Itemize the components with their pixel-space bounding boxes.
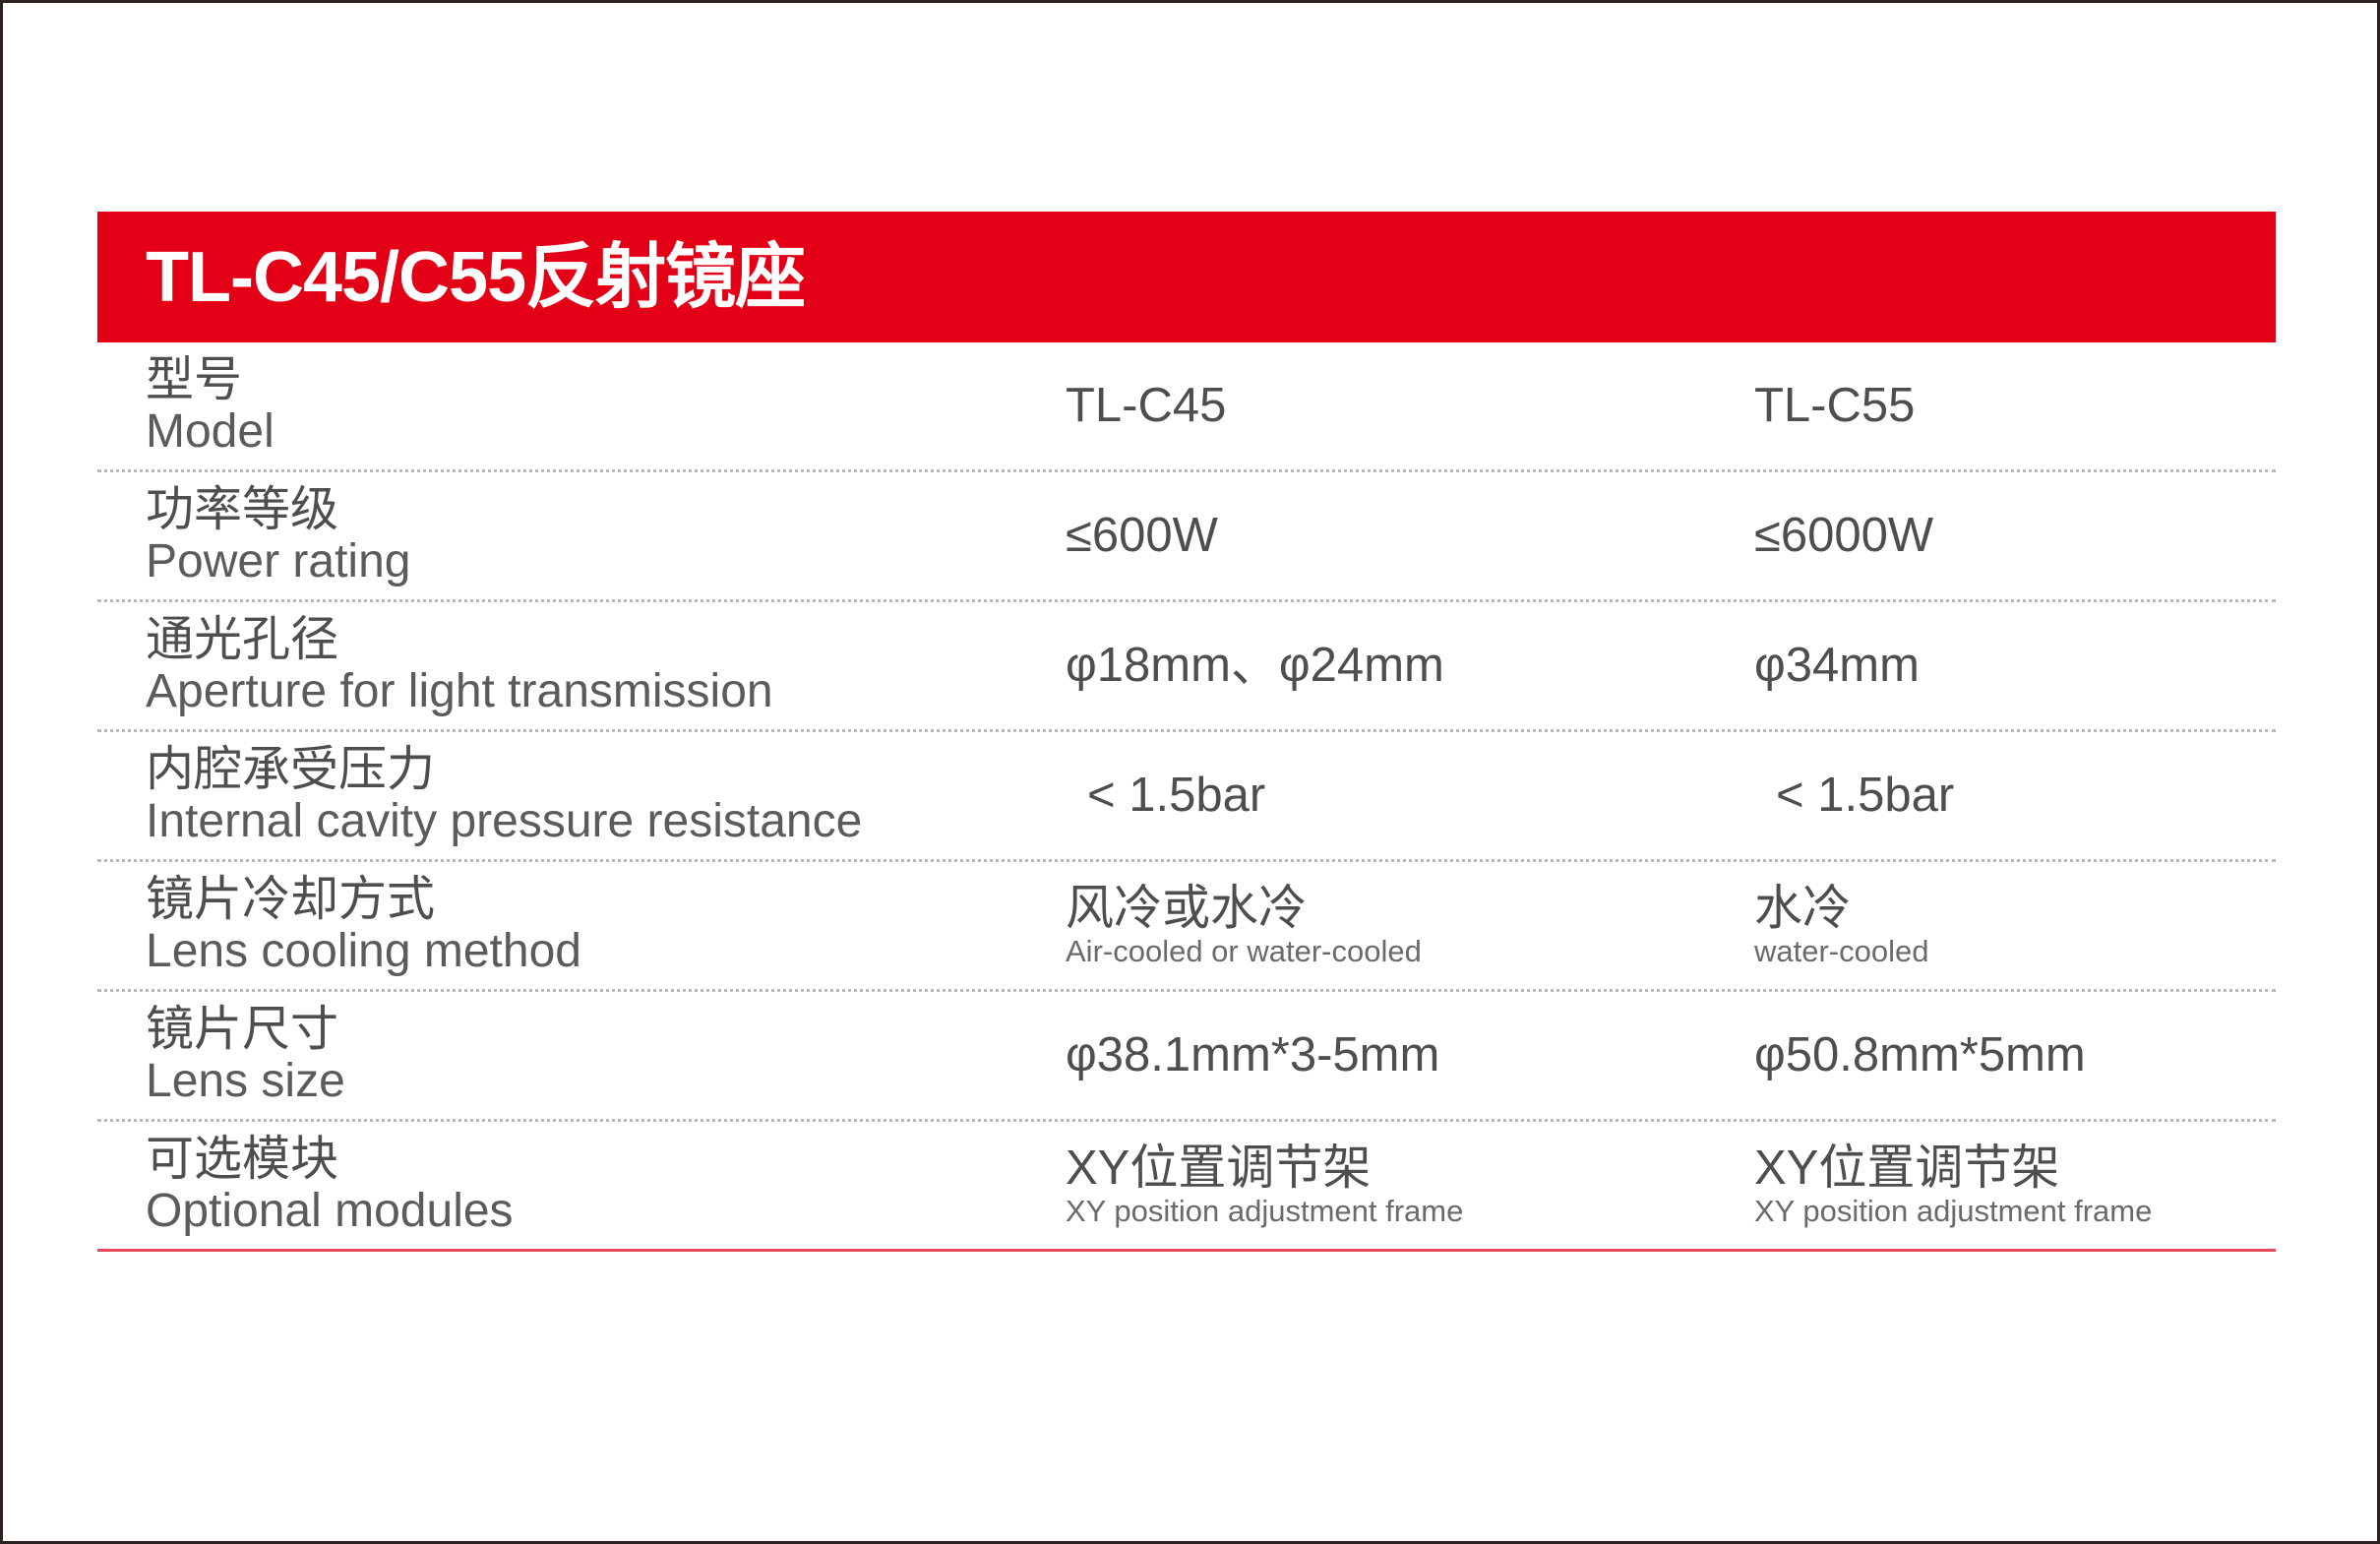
spec-label-cn: 通光孔径: [146, 614, 1061, 666]
spec-value-tl-c55: TL-C55: [1754, 380, 2276, 432]
spec-value-sub-tl-c55: XY position adjustment frame: [1754, 1195, 2276, 1228]
spec-label-en: Lens size: [146, 1056, 1061, 1107]
spec-label-cn: 镜片冷却方式: [146, 874, 1061, 926]
spec-value-cell-tl-c45: 风冷或水冷Air-cooled or water-cooled: [1066, 862, 1744, 989]
specification-table: 型号ModelTL-C45TL-C55功率等级Power rating≤600W…: [97, 342, 2276, 1252]
spec-label-cell: 功率等级Power rating: [146, 472, 1061, 599]
spec-value-tl-c45: ≤600W: [1066, 510, 1744, 562]
table-row: 内腔承受压力Internal cavity pressure resistanc…: [97, 732, 2276, 862]
spec-value-tl-c55: ≤6000W: [1754, 510, 2276, 562]
spec-value-cell-tl-c45: φ38.1mm*3-5mm: [1066, 992, 1744, 1119]
table-row: 镜片冷却方式Lens cooling method风冷或水冷Air-cooled…: [97, 862, 2276, 992]
spec-label-en: Internal cavity pressure resistance: [146, 796, 1061, 847]
spec-label-cell: 型号Model: [146, 342, 1061, 469]
spec-value-cell-tl-c45: < 1.5bar: [1087, 732, 1766, 859]
spec-value-sub-tl-c45: Air-cooled or water-cooled: [1066, 935, 1744, 968]
spec-value-sub-tl-c45: XY position adjustment frame: [1066, 1195, 1744, 1228]
spec-value-tl-c45: 风冷或水冷: [1066, 883, 1744, 935]
spec-value-tl-c55: 水冷: [1754, 883, 2276, 935]
spec-value-cell-tl-c45: TL-C45: [1066, 342, 1744, 469]
spec-value-tl-c55: XY位置调节架: [1754, 1143, 2276, 1195]
spec-value-sub-tl-c55: water-cooled: [1754, 935, 2276, 968]
spec-value-cell-tl-c55: XY位置调节架XY position adjustment frame: [1754, 1122, 2276, 1249]
table-row: 通光孔径Aperture for light transmissionφ18mm…: [97, 602, 2276, 732]
spec-value-tl-c45: φ38.1mm*3-5mm: [1066, 1029, 1744, 1081]
spec-value-cell-tl-c45: XY位置调节架XY position adjustment frame: [1066, 1122, 1744, 1249]
page-title: TL-C45/C55反射镜座: [97, 242, 805, 313]
spec-value-tl-c55: φ50.8mm*5mm: [1754, 1029, 2276, 1081]
spec-value-cell-tl-c55: 水冷water-cooled: [1754, 862, 2276, 989]
spec-value-cell-tl-c45: φ18mm、φ24mm: [1066, 602, 1744, 729]
spec-value-cell-tl-c55: < 1.5bar: [1776, 732, 2297, 859]
spec-value-cell-tl-c45: ≤600W: [1066, 472, 1744, 599]
spec-label-en: Power rating: [146, 536, 1061, 587]
spec-label-cell: 可选模块Optional modules: [146, 1122, 1061, 1249]
spec-label-cell: 通光孔径Aperture for light transmission: [146, 602, 1061, 729]
spec-label-en: Optional modules: [146, 1186, 1061, 1237]
spec-label-cn: 可选模块: [146, 1134, 1061, 1186]
spec-value-tl-c45: XY位置调节架: [1066, 1143, 1744, 1195]
spec-label-en: Model: [146, 406, 1061, 458]
spec-label-cell: 镜片冷却方式Lens cooling method: [146, 862, 1061, 989]
spec-label-cn: 内腔承受压力: [146, 744, 1061, 796]
table-row: 型号ModelTL-C45TL-C55: [97, 342, 2276, 472]
table-row: 功率等级Power rating≤600W≤6000W: [97, 472, 2276, 602]
spec-value-tl-c55: φ34mm: [1754, 640, 2276, 692]
spec-value-cell-tl-c55: TL-C55: [1754, 342, 2276, 469]
spec-label-cn: 功率等级: [146, 484, 1061, 536]
table-row: 镜片尺寸Lens sizeφ38.1mm*3-5mmφ50.8mm*5mm: [97, 992, 2276, 1122]
spec-label-cn: 镜片尺寸: [146, 1004, 1061, 1056]
spec-value-tl-c55: < 1.5bar: [1776, 770, 2297, 822]
table-row: 可选模块Optional modulesXY位置调节架XY position a…: [97, 1122, 2276, 1252]
spec-value-cell-tl-c55: φ34mm: [1754, 602, 2276, 729]
spec-value-cell-tl-c55: ≤6000W: [1754, 472, 2276, 599]
spec-value-cell-tl-c55: φ50.8mm*5mm: [1754, 992, 2276, 1119]
title-banner: TL-C45/C55反射镜座: [97, 212, 2276, 342]
spec-label-cell: 内腔承受压力Internal cavity pressure resistanc…: [146, 732, 1061, 859]
spec-label-cn: 型号: [146, 354, 1061, 406]
spec-value-tl-c45: < 1.5bar: [1087, 770, 1766, 822]
spec-label-en: Aperture for light transmission: [146, 666, 1061, 717]
spec-sheet-page: TL-C45/C55反射镜座 型号ModelTL-C45TL-C55功率等级Po…: [0, 0, 2380, 1544]
spec-label-cell: 镜片尺寸Lens size: [146, 992, 1061, 1119]
spec-value-tl-c45: TL-C45: [1066, 380, 1744, 432]
spec-value-tl-c45: φ18mm、φ24mm: [1066, 640, 1744, 692]
spec-label-en: Lens cooling method: [146, 926, 1061, 977]
